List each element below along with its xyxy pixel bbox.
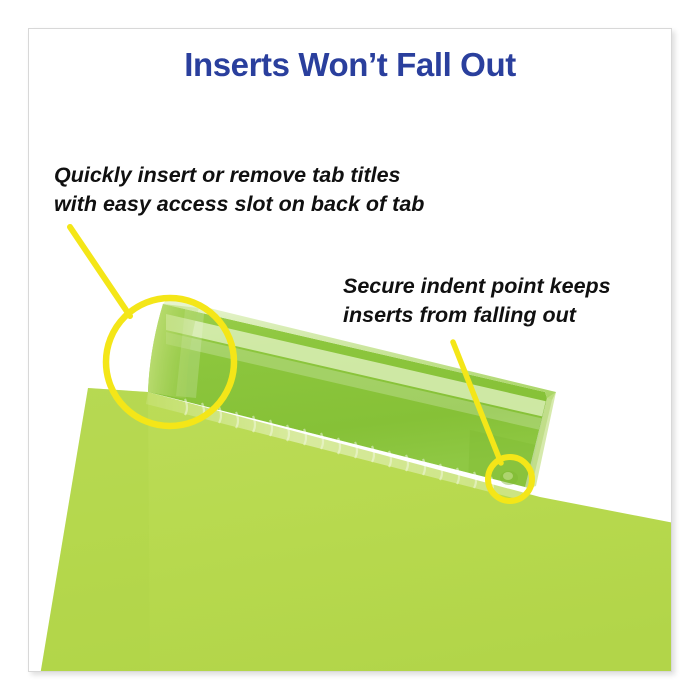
indent-point-detail	[500, 471, 518, 485]
leader-line-access-slot	[70, 227, 130, 316]
callout-text-indent-point: Secure indent point keeps inserts from f…	[343, 272, 611, 330]
photo-frame	[28, 28, 672, 672]
product-illustration	[28, 28, 672, 672]
product-feature-figure: Inserts Won’t Fall Out Quickly insert or…	[0, 0, 700, 700]
callout-text-access-slot: Quickly insert or remove tab titles with…	[54, 161, 424, 219]
page-title: Inserts Won’t Fall Out	[0, 46, 700, 84]
callout-text-indent-point-line2: inserts from falling out	[343, 301, 611, 330]
callout-text-indent-point-line1: Secure indent point keeps	[343, 272, 611, 301]
callout-text-access-slot-line2: with easy access slot on back of tab	[54, 190, 424, 219]
photo-stage	[28, 28, 672, 672]
callout-text-access-slot-line1: Quickly insert or remove tab titles	[54, 161, 424, 190]
